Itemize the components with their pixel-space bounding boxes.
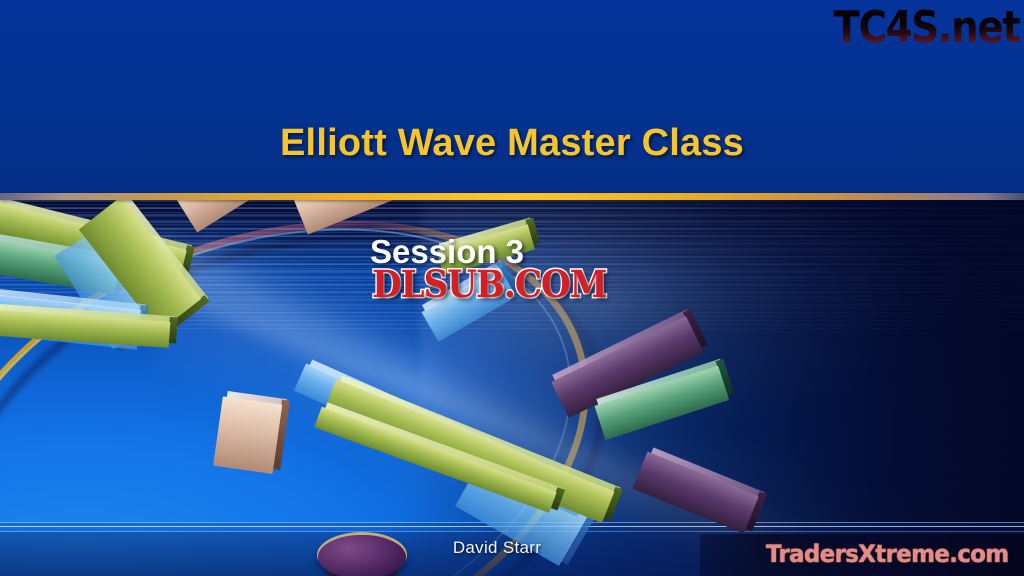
cream-bar-2 bbox=[213, 396, 282, 474]
watermark-dlsub: DLSUB.COM bbox=[372, 262, 606, 306]
watermark-tradersxtreme: TradersXtreme.com bbox=[766, 540, 1009, 568]
page-title: Elliott Wave Master Class bbox=[0, 122, 1024, 165]
bar-front-face bbox=[213, 396, 282, 474]
gold-divider-line bbox=[0, 193, 1024, 200]
watermark-tc4s: TC4S.net bbox=[834, 2, 1020, 53]
presentation-slide: Elliott Wave Master Class Session 3 Davi… bbox=[0, 0, 1024, 576]
